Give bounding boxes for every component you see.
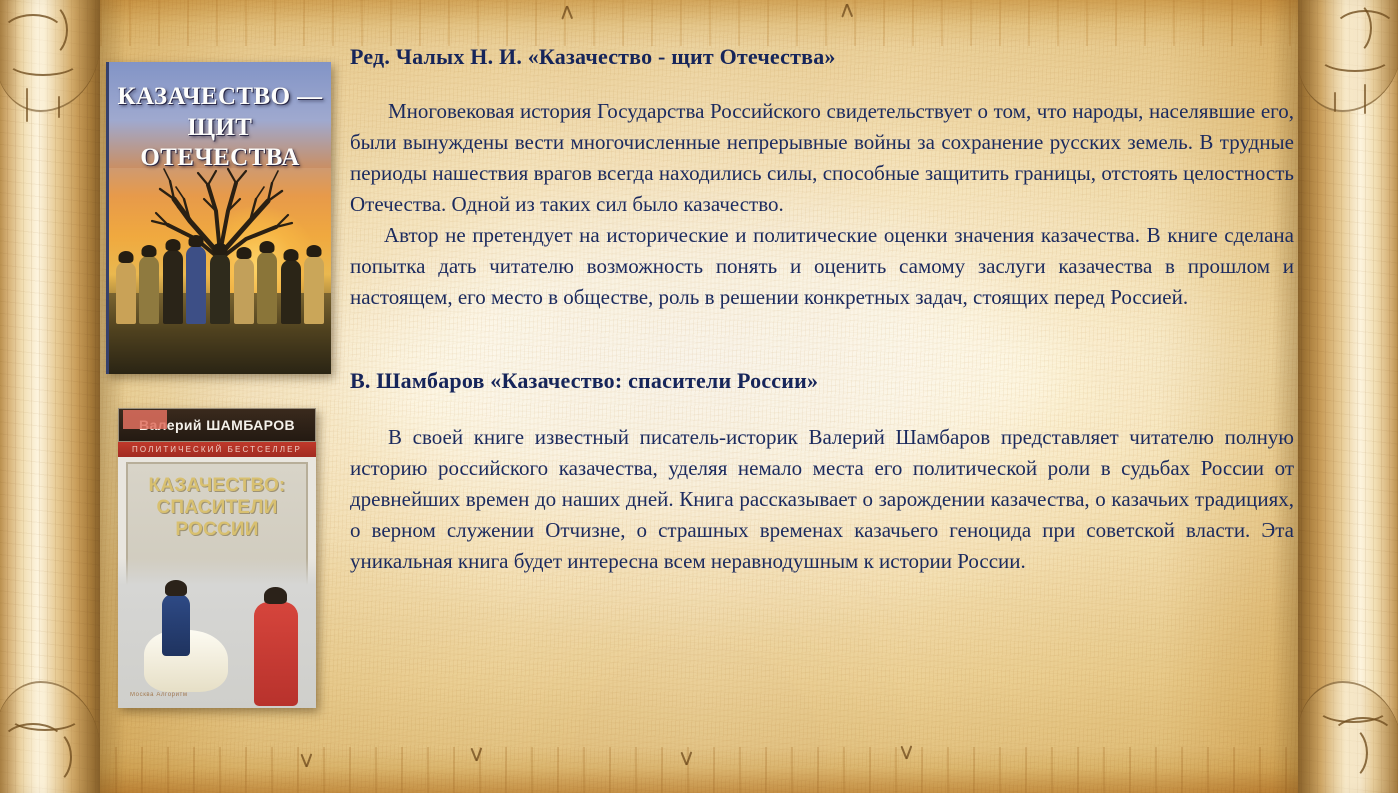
entry-1-paragraph-1: Многовековая история Государства Российс… xyxy=(350,96,1294,220)
book2-title-line2: СПАСИТЕЛИ xyxy=(156,497,277,519)
entry-2-paragraph-1: В своей книге известный писатель-историк… xyxy=(350,422,1294,577)
book1-figure xyxy=(210,254,230,324)
book2-price-stamp xyxy=(123,410,167,429)
book1-figure xyxy=(116,262,136,324)
book1-title-line2: ЩИТ ОТЕЧЕСТВА xyxy=(117,113,323,174)
text-column: Ред. Чалых Н. И. «Казачество - щит Отече… xyxy=(350,44,1294,577)
entry-1-paragraph-2: Автор не претендует на исторические и по… xyxy=(350,220,1294,313)
book1-figure xyxy=(139,256,159,324)
spacer xyxy=(350,394,1294,422)
book1-figure xyxy=(234,258,254,324)
book1-figure xyxy=(186,246,206,324)
entry-1-heading: Ред. Чалых Н. И. «Казачество - щит Отече… xyxy=(350,44,1294,70)
spacer xyxy=(350,70,1294,96)
book2-series-band: ПОЛИТИЧЕСКИЙ БЕСТСЕЛЛЕР xyxy=(118,442,316,457)
book2-title-line3: РОССИИ xyxy=(175,519,258,541)
book1-figure xyxy=(257,252,277,324)
book1-title-line1: КАЗАЧЕСТВО — xyxy=(117,82,323,113)
book1-cossack-figures xyxy=(116,228,325,324)
book2-title-line1: КАЗАЧЕСТВО: xyxy=(149,475,286,497)
book2-author-band: Валерий ШАМБАРОВ xyxy=(118,408,316,442)
book1-figure xyxy=(281,260,301,324)
book-cover-kazachestvo-spasiteli-rossii[interactable]: Валерий ШАМБАРОВ ПОЛИТИЧЕСКИЙ БЕСТСЕЛЛЕР… xyxy=(118,408,316,708)
book-covers-column: КАЗАЧЕСТВО — ЩИТ ОТЕЧЕСТВА Валерий ШАМБА… xyxy=(104,62,336,708)
slide-content: КАЗАЧЕСТВО — ЩИТ ОТЕЧЕСТВА Валерий ШАМБА… xyxy=(104,44,1294,750)
spacer xyxy=(350,314,1294,368)
book1-cover-title: КАЗАЧЕСТВО — ЩИТ ОТЕЧЕСТВА xyxy=(109,82,331,174)
book2-artwork: Москва Алгоритм xyxy=(118,558,316,708)
book2-red-cossack-icon xyxy=(254,602,298,706)
book2-publisher-footer: Москва Алгоритм xyxy=(130,691,188,700)
book1-figure xyxy=(163,250,183,324)
entry-2-heading: В. Шамбаров «Казачество: спасители Росси… xyxy=(350,368,1294,394)
slide-root: КАЗАЧЕСТВО — ЩИТ ОТЕЧЕСТВА Валерий ШАМБА… xyxy=(0,0,1398,793)
book2-blue-rider-icon xyxy=(162,594,190,656)
book1-figure xyxy=(304,256,324,324)
book-cover-kazachestvo-shchit-otechestva[interactable]: КАЗАЧЕСТВО — ЩИТ ОТЕЧЕСТВА xyxy=(106,62,331,374)
